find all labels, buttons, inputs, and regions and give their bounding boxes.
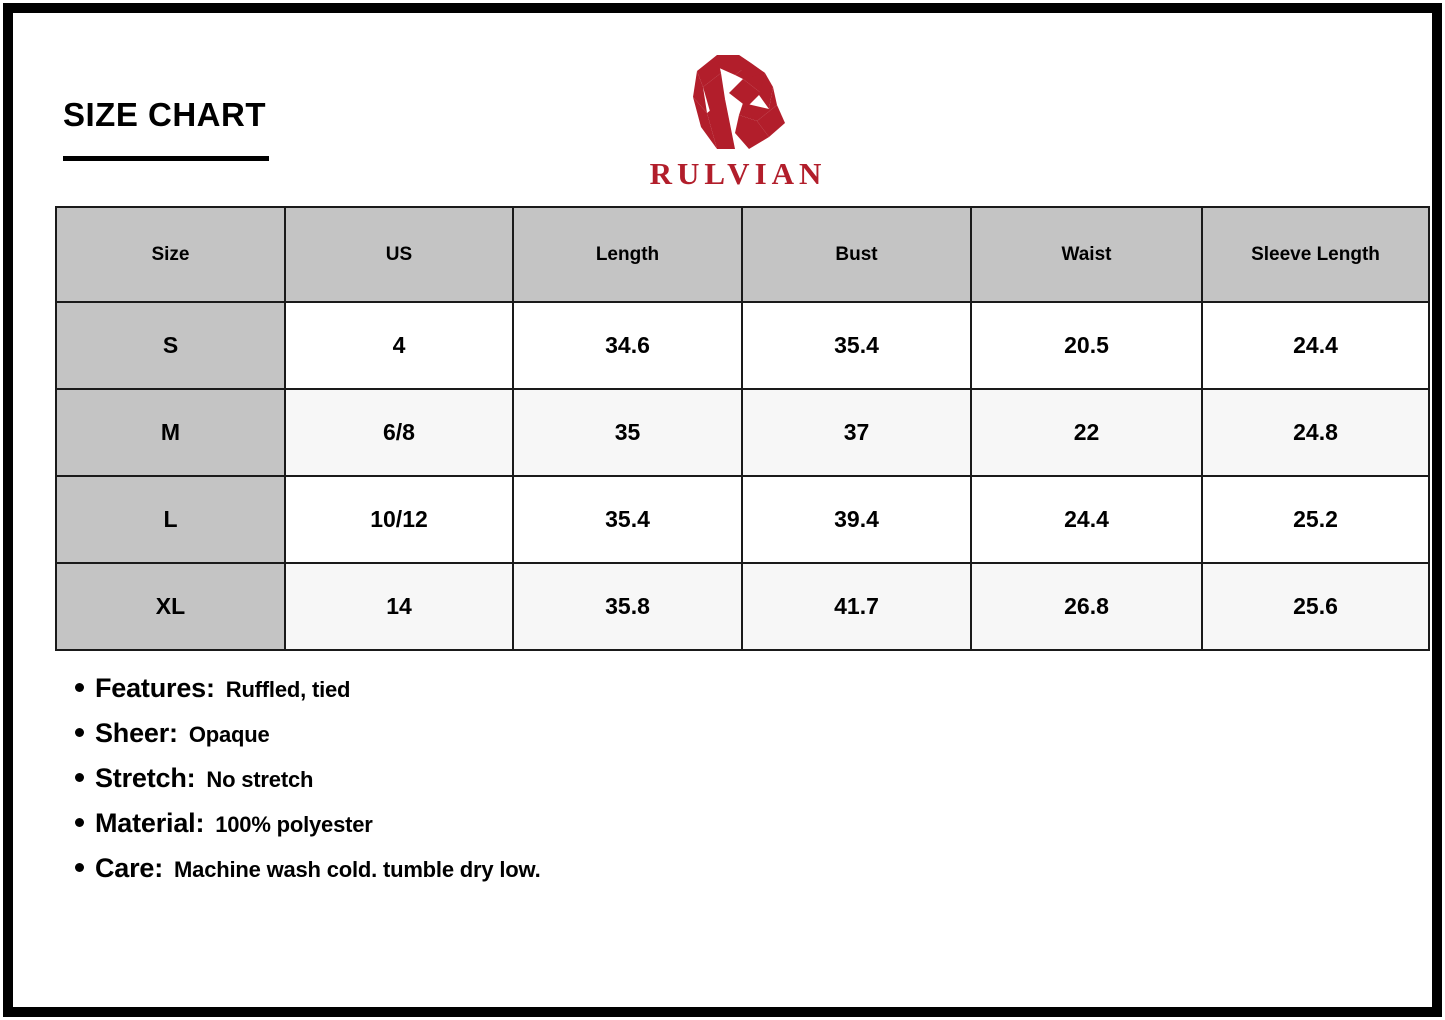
cell-length: 34.6 — [513, 302, 742, 389]
cell-sleeve: 25.6 — [1202, 563, 1429, 650]
list-item: Sheer: Opaque — [75, 718, 540, 749]
bullet-icon — [75, 863, 84, 872]
cell-waist: 24.4 — [971, 476, 1202, 563]
cell-size: XL — [56, 563, 285, 650]
column-header-length: Length — [513, 207, 742, 302]
table-row: XL 14 35.8 41.7 26.8 25.6 — [56, 563, 1429, 650]
spec-label: Care: — [95, 853, 163, 884]
table-row: L 10/12 35.4 39.4 24.4 25.2 — [56, 476, 1429, 563]
cell-length: 35 — [513, 389, 742, 476]
cell-bust: 35.4 — [742, 302, 971, 389]
page-content: SIZE CHART — [13, 13, 1432, 1007]
spec-value: Machine wash cold. tumble dry low. — [174, 857, 540, 883]
cell-us: 10/12 — [285, 476, 513, 563]
product-spec-list: Features: Ruffled, tied Sheer: Opaque St… — [75, 673, 540, 898]
column-header-bust: Bust — [742, 207, 971, 302]
list-item: Care: Machine wash cold. tumble dry low. — [75, 853, 540, 884]
angular-r-logo-icon — [673, 53, 803, 153]
bullet-icon — [75, 728, 84, 737]
column-header-sleeve-length: Sleeve Length — [1202, 207, 1429, 302]
cell-bust: 41.7 — [742, 563, 971, 650]
column-header-size: Size — [56, 207, 285, 302]
cell-length: 35.4 — [513, 476, 742, 563]
column-header-us: US — [285, 207, 513, 302]
cell-us: 14 — [285, 563, 513, 650]
spec-value: No stretch — [206, 767, 313, 793]
bullet-icon — [75, 818, 84, 827]
bullet-icon — [75, 773, 84, 782]
title-block: SIZE CHART — [63, 98, 269, 161]
cell-sleeve: 24.4 — [1202, 302, 1429, 389]
bullet-icon — [75, 683, 84, 692]
cell-sleeve: 25.2 — [1202, 476, 1429, 563]
cell-waist: 20.5 — [971, 302, 1202, 389]
spec-label: Sheer: — [95, 718, 178, 749]
spec-label: Features: — [95, 673, 215, 704]
spec-value: Opaque — [189, 722, 270, 748]
column-header-waist: Waist — [971, 207, 1202, 302]
cell-bust: 39.4 — [742, 476, 971, 563]
spec-value: Ruffled, tied — [226, 677, 351, 703]
cell-us: 4 — [285, 302, 513, 389]
cell-us: 6/8 — [285, 389, 513, 476]
size-chart-page: SIZE CHART — [0, 0, 1445, 1020]
cell-length: 35.8 — [513, 563, 742, 650]
cell-sleeve: 24.8 — [1202, 389, 1429, 476]
table-header-row: Size US Length Bust Waist Sleeve Length — [56, 207, 1429, 302]
cell-waist: 26.8 — [971, 563, 1202, 650]
spec-label: Material: — [95, 808, 204, 839]
table-header: Size US Length Bust Waist Sleeve Length — [56, 207, 1429, 302]
table-row: S 4 34.6 35.4 20.5 24.4 — [56, 302, 1429, 389]
cell-size: S — [56, 302, 285, 389]
cell-size: M — [56, 389, 285, 476]
brand-logo: RULVIAN — [633, 53, 843, 189]
spec-value: 100% polyester — [215, 812, 372, 838]
list-item: Stretch: No stretch — [75, 763, 540, 794]
table-row: M 6/8 35 37 22 24.8 — [56, 389, 1429, 476]
cell-bust: 37 — [742, 389, 971, 476]
list-item: Material: 100% polyester — [75, 808, 540, 839]
brand-wordmark: RULVIAN — [633, 158, 843, 189]
cell-waist: 22 — [971, 389, 1202, 476]
title-underline-rule — [63, 156, 269, 161]
page-title: SIZE CHART — [63, 98, 269, 131]
cell-size: L — [56, 476, 285, 563]
spec-label: Stretch: — [95, 763, 195, 794]
size-chart-table: Size US Length Bust Waist Sleeve Length … — [55, 206, 1430, 651]
list-item: Features: Ruffled, tied — [75, 673, 540, 704]
page-frame-border: SIZE CHART — [3, 3, 1442, 1017]
table-body: S 4 34.6 35.4 20.5 24.4 M 6/8 35 37 22 2… — [56, 302, 1429, 650]
